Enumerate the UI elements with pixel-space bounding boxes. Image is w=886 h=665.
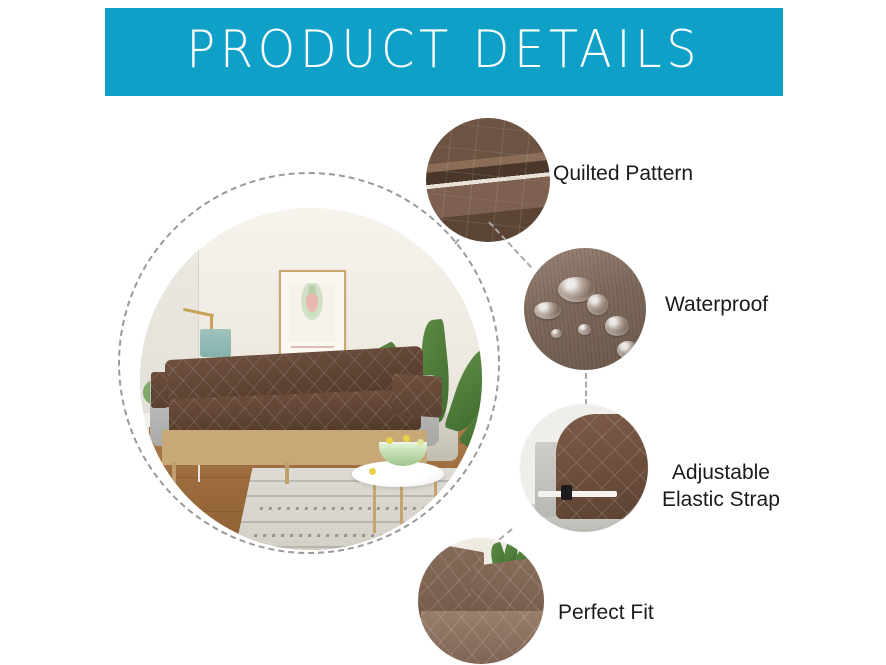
feature-label-perfect-fit: Perfect Fit (558, 599, 654, 626)
feature-image-waterproof (524, 248, 646, 370)
elastic-strap-band (538, 491, 617, 497)
label-line-2: Elastic Strap (662, 488, 780, 511)
sofa-cover-arm-right (392, 373, 442, 418)
cover-seat-panel (421, 611, 544, 664)
wall-art-canvas (289, 283, 335, 342)
water-droplet (551, 329, 562, 339)
water-droplet (617, 341, 639, 359)
feature-image-perfect-fit (418, 538, 544, 664)
water-droplet (534, 302, 561, 319)
feature-label-quilted-pattern: Quilted Pattern (553, 160, 693, 187)
label-line-1: Adjustable (672, 461, 770, 484)
header-banner: PRODUCT DETAILS (105, 8, 783, 96)
product-details-infographic: PRODUCT DETAILS (0, 0, 886, 665)
pineapple-motif (306, 292, 318, 312)
hero-image-circle (140, 208, 482, 550)
feature-label-adjustable-elastic-strap: Adjustable Elastic Strap (662, 459, 780, 513)
strap-buckle (561, 485, 573, 500)
page-title: PRODUCT DETAILS (187, 24, 702, 76)
water-droplet (578, 324, 591, 335)
feature-label-waterproof: Waterproof (665, 291, 768, 318)
connector-waterproof-to-elastic-strap (585, 373, 587, 405)
cover-over-arm (556, 414, 648, 519)
feature-image-adjustable-elastic-strap (520, 404, 648, 532)
living-room-scene (140, 208, 482, 550)
sofa-cover-arm-left (151, 372, 168, 408)
water-droplet (605, 316, 629, 336)
